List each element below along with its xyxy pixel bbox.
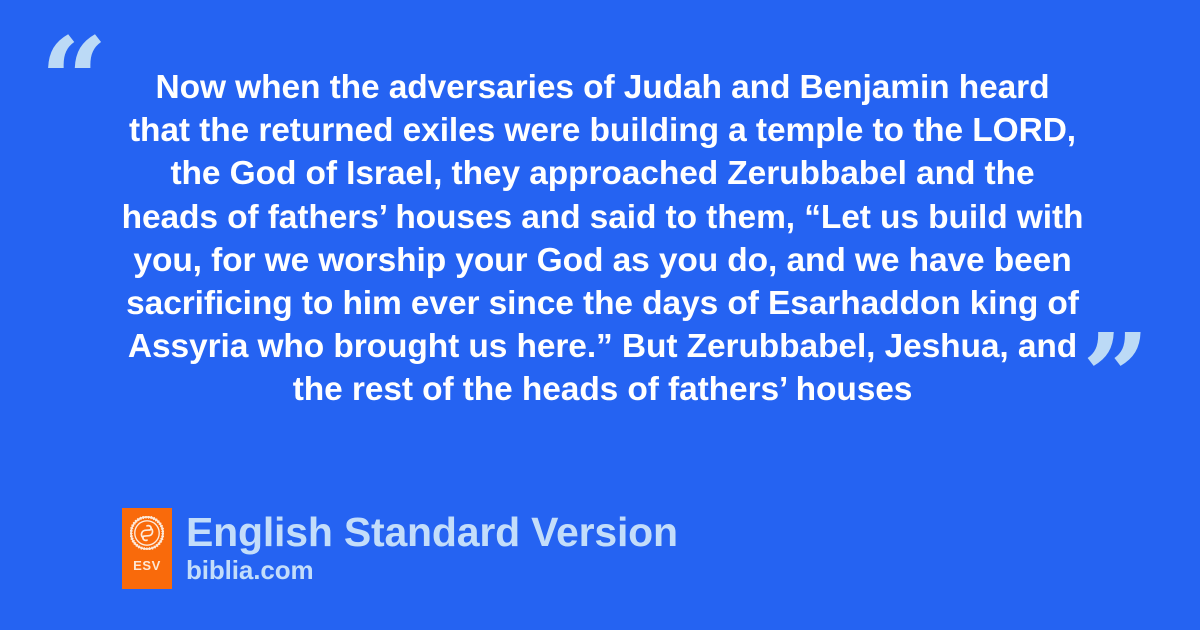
attribution-text: English Standard Version biblia.com xyxy=(186,508,678,585)
verse-image-card: “ Now when the adversaries of Judah and … xyxy=(0,0,1200,630)
quote-line: Now when the adversaries of Judah and Be… xyxy=(115,66,1090,109)
bible-version-name: English Standard Version xyxy=(186,509,678,555)
opening-quote-icon: “ xyxy=(40,22,110,140)
quote-line: the rest of the heads of fathers’ houses xyxy=(115,368,1090,411)
esv-seal-icon xyxy=(130,516,164,550)
attribution-block: ESV English Standard Version biblia.com xyxy=(122,508,678,589)
esv-logo-label: ESV xyxy=(133,559,161,572)
esv-logo: ESV xyxy=(122,508,172,589)
quote-line: Assyria who brought us here.” But Zerubb… xyxy=(115,325,1090,368)
quote-text: Now when the adversaries of Judah and Be… xyxy=(115,66,1090,412)
site-url-label[interactable]: biblia.com xyxy=(186,555,678,585)
quote-line: heads of fathers’ houses and said to the… xyxy=(115,196,1090,239)
quote-line: sacrificing to him ever since the days o… xyxy=(115,282,1090,325)
closing-quote-icon: ” xyxy=(1082,318,1152,436)
quote-line: the God of Israel, they approached Zerub… xyxy=(115,152,1090,195)
quote-line: that the returned exiles were building a… xyxy=(115,109,1090,152)
quote-line: you, for we worship your God as you do, … xyxy=(115,239,1090,282)
